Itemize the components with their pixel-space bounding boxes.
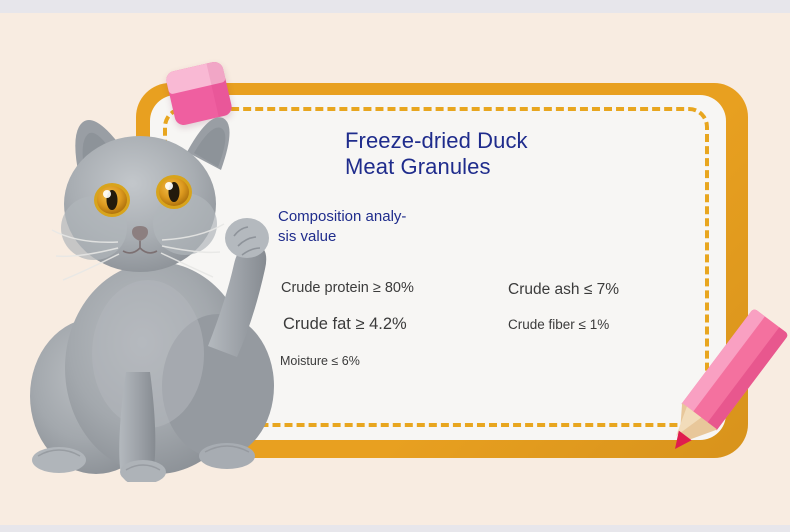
cat-photo	[22, 96, 284, 482]
promo-banner: Freeze-dried Duck Meat Granules Composit…	[0, 0, 790, 532]
top-band	[0, 0, 790, 13]
product-title: Freeze-dried Duck Meat Granules	[345, 128, 675, 180]
product-title-line-1: Freeze-dried Duck	[345, 128, 675, 154]
composition-heading-line-2: sis value	[278, 227, 438, 247]
spec-moisture: Moisture ≤ 6%	[280, 354, 360, 368]
spec-crude-protein: Crude protein ≥ 80%	[281, 280, 414, 296]
product-title-line-2: Meat Granules	[345, 154, 675, 180]
spec-crude-fat: Crude fat ≥ 4.2%	[283, 315, 407, 334]
bottom-band	[0, 525, 790, 532]
spec-crude-ash: Crude ash ≤ 7%	[508, 281, 619, 299]
composition-heading-line-1: Composition analy-	[278, 207, 438, 227]
spec-crude-fiber: Crude fiber ≤ 1%	[508, 317, 609, 332]
composition-heading: Composition analy- sis value	[278, 207, 438, 247]
